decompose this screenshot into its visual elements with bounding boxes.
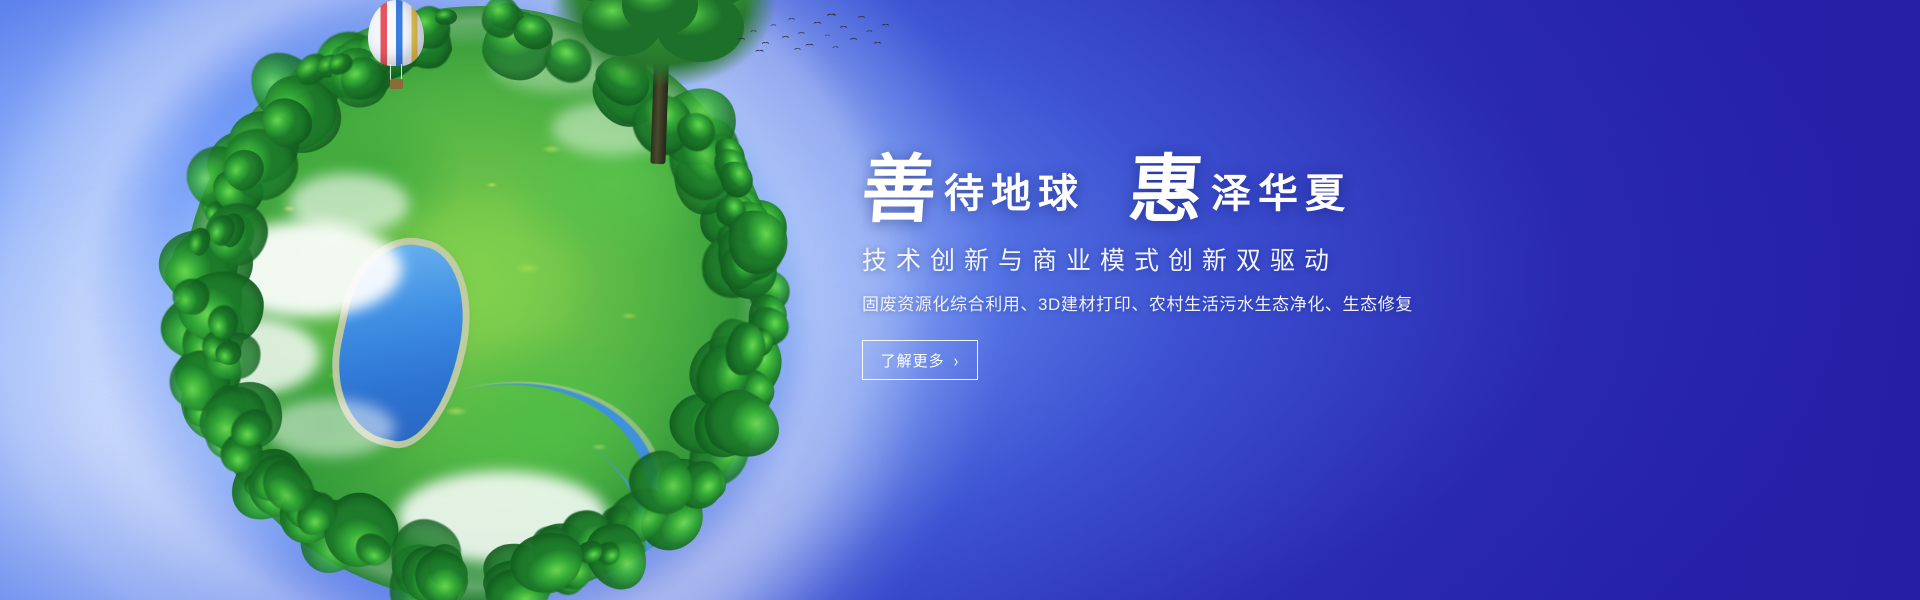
headline-part2-small: 泽华夏 — [1203, 174, 1352, 224]
balloon-basket — [390, 79, 403, 89]
bird — [798, 32, 804, 36]
balloon-ropes — [390, 64, 402, 80]
hot-air-balloon — [368, 0, 424, 92]
learn-more-label: 了解更多 — [881, 350, 945, 371]
bird — [771, 24, 776, 27]
balloon-envelope — [368, 0, 424, 66]
hero-description: 固废资源化综合利用、3D建材打印、农村生活污水生态净化、生态修复 — [862, 294, 1562, 316]
learn-more-button[interactable]: 了解更多 › — [862, 340, 978, 380]
bird — [806, 44, 814, 48]
headline-part2-large: 惠 — [1127, 156, 1206, 224]
bird — [788, 18, 794, 22]
bird — [840, 26, 847, 30]
bird — [833, 46, 839, 49]
cloud — [212, 221, 402, 317]
tiny-planet-globe — [150, 0, 810, 600]
bird — [756, 50, 764, 54]
bird — [827, 14, 836, 19]
bird — [782, 36, 789, 40]
bird — [867, 30, 873, 33]
bird — [858, 16, 865, 20]
headline-part1-small: 待地球 — [936, 174, 1085, 224]
hero-copy: 善 待地球 惠 泽华夏 技术创新与商业模式创新双驱动 固废资源化综合利用、3D建… — [862, 128, 1562, 380]
bird — [794, 48, 800, 52]
bird — [814, 22, 821, 26]
bird — [751, 30, 757, 33]
chevron-right-icon: › — [954, 350, 960, 370]
bird — [882, 24, 889, 28]
bird — [738, 38, 745, 42]
bird-flock — [736, 12, 886, 60]
hero-banner: 善 待地球 惠 泽华夏 技术创新与商业模式创新双驱动 固废资源化综合利用、3D建… — [0, 0, 1920, 600]
cloud — [289, 173, 409, 235]
bird — [825, 35, 830, 38]
cloud — [397, 471, 607, 563]
page-title: 善 待地球 惠 泽华夏 — [862, 128, 1562, 224]
headline-part1-large: 善 — [860, 156, 939, 224]
hero-subtitle: 技术创新与商业模式创新双驱动 — [862, 246, 1562, 277]
bird — [874, 42, 881, 46]
bird — [762, 42, 769, 46]
bird — [850, 38, 857, 42]
